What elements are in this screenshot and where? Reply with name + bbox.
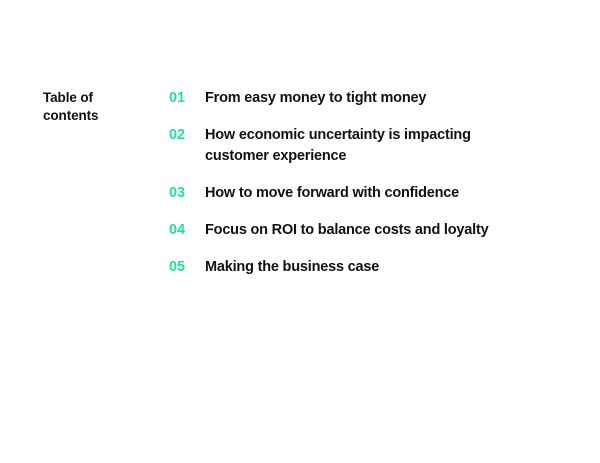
list-item-number: 03: [169, 183, 205, 204]
list-item[interactable]: 05 Making the business case: [169, 257, 559, 278]
list-item-title[interactable]: How to move forward with confidence: [205, 183, 527, 204]
table-of-contents-slide: Table of contents 01 From easy money to …: [0, 0, 600, 463]
list-item[interactable]: 01 From easy money to tight money: [169, 88, 559, 109]
list-item-number: 04: [169, 220, 205, 241]
page-title-line-1: Table of: [43, 90, 93, 105]
list-item-number: 05: [169, 257, 205, 278]
list-item[interactable]: 03 How to move forward with confidence: [169, 183, 559, 204]
page-title: Table of contents: [43, 89, 153, 125]
list-item[interactable]: 04 Focus on ROI to balance costs and loy…: [169, 220, 559, 241]
table-of-contents-list: 01 From easy money to tight money 02 How…: [169, 88, 559, 278]
list-item-title[interactable]: Making the business case: [205, 257, 527, 278]
list-item-number: 01: [169, 88, 205, 109]
list-item-title[interactable]: From easy money to tight money: [205, 88, 527, 109]
page-title-line-2: contents: [43, 108, 98, 123]
list-item[interactable]: 02 How economic uncertainty is impacting…: [169, 125, 559, 167]
list-item-number: 02: [169, 125, 205, 146]
list-item-title[interactable]: Focus on ROI to balance costs and loyalt…: [205, 220, 527, 241]
list-item-title[interactable]: How economic uncertainty is impacting cu…: [205, 125, 527, 167]
